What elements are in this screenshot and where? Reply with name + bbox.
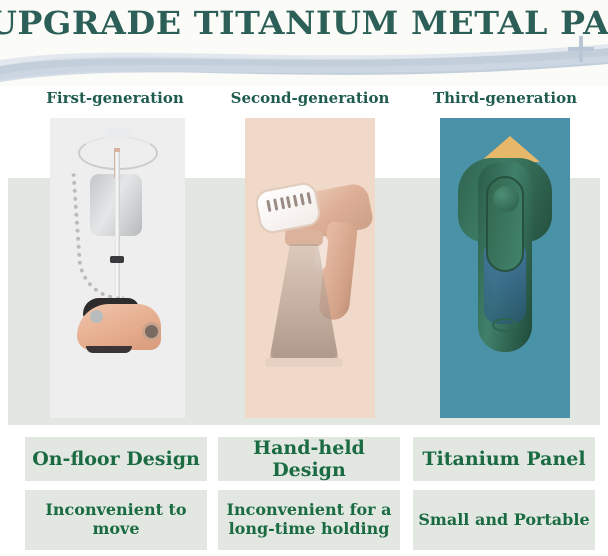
wave-decoration — [0, 40, 608, 86]
generation-label-second: Second-generation — [215, 89, 405, 107]
tank-base-icon — [265, 358, 343, 367]
description-first: Inconvenient to move — [25, 490, 207, 550]
base-foot-icon — [86, 346, 132, 353]
tank-collar-icon — [285, 230, 323, 246]
product-image-second-generation — [245, 118, 375, 418]
generation-label-third: Third-generation — [415, 89, 595, 107]
plus-icon — [568, 36, 594, 62]
generation-label-first: First-generation — [25, 89, 205, 107]
description-third: Small and Portable — [413, 490, 595, 550]
header-banner: UPGRADE TITANIUM METAL PANEL — [0, 0, 608, 86]
brand-logo-icon — [492, 318, 518, 332]
design-label-second: Hand-held Design — [218, 437, 400, 481]
design-label-third: Titanium Panel — [413, 437, 595, 481]
power-button-icon — [493, 186, 519, 212]
pole-clip-icon — [110, 256, 124, 263]
product-image-first-generation — [50, 118, 185, 418]
design-label-first: On-floor Design — [25, 437, 207, 481]
description-second: Inconvenient for a long-time holding — [218, 490, 400, 550]
steam-hose-icon — [72, 171, 125, 304]
control-knob-icon — [90, 310, 103, 323]
wheel-icon — [142, 322, 161, 341]
page-title: UPGRADE TITANIUM METAL PANEL — [0, 4, 608, 42]
hanger-top-icon — [103, 128, 132, 140]
generation-label-row: First-generation Second-generation Third… — [0, 89, 608, 113]
product-image-third-generation — [440, 118, 570, 418]
